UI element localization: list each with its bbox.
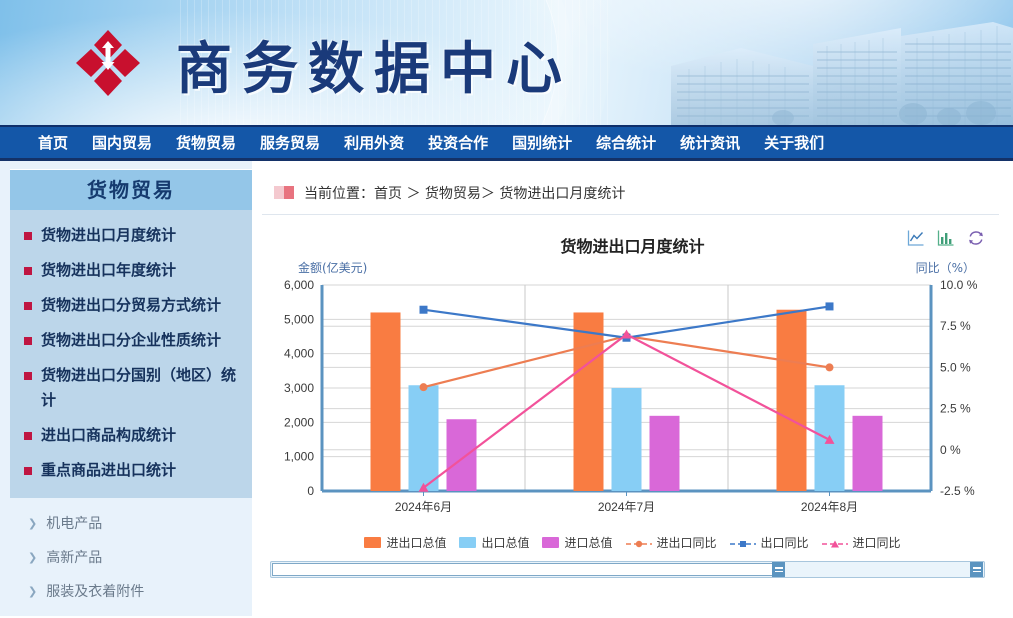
nav-domestic-trade[interactable]: 国内贸易	[80, 132, 164, 153]
sidebar-panel: 货物贸易 货物进出口月度统计 货物进出口年度统计 货物进出口分贸易方式统计 货物…	[10, 169, 252, 498]
legend-label: 进出口同比	[657, 534, 717, 551]
bullet-icon	[24, 432, 32, 440]
sidebar-heading: 货物贸易	[10, 170, 252, 210]
legend-label: 进出口总值	[386, 534, 446, 551]
legend-line-triangle-icon	[822, 538, 848, 548]
sidebar-subitem-label: 高新产品	[46, 547, 102, 567]
svg-text:4,000: 4,000	[284, 347, 314, 361]
legend-swatch	[542, 537, 559, 548]
svg-text:7.5 %: 7.5 %	[940, 319, 971, 333]
svg-text:2.5 %: 2.5 %	[940, 402, 971, 416]
nav-statistics-news[interactable]: 统计资讯	[668, 132, 752, 153]
bullet-icon	[24, 302, 32, 310]
sidebar-item-commodity-composition[interactable]: 进出口商品构成统计	[10, 418, 252, 453]
nav-country-statistics[interactable]: 国别统计	[500, 132, 584, 153]
breadcrumb-text: 当前位置：首页 ＞ 货物贸易＞ 货物进出口月度统计	[304, 183, 625, 203]
legend-item-import-yoy[interactable]: 进口同比	[822, 534, 901, 551]
chevron-right-icon: ❯	[28, 585, 37, 598]
page-body: 货物贸易 货物进出口月度统计 货物进出口年度统计 货物进出口分贸易方式统计 货物…	[0, 161, 1013, 616]
scrollbar-right-grip[interactable]	[970, 562, 983, 577]
scrollbar-left-grip[interactable]	[772, 562, 785, 577]
svg-text:3,000: 3,000	[284, 381, 314, 395]
bullet-icon	[24, 467, 32, 475]
sidebar-subitem-mechanical-electrical[interactable]: ❯ 机电产品	[10, 506, 252, 540]
svg-text:2024年7月: 2024年7月	[598, 500, 655, 514]
svg-text:0: 0	[307, 484, 314, 498]
legend-item-total-yoy[interactable]: 进出口同比	[626, 534, 717, 551]
svg-text:6,000: 6,000	[284, 278, 314, 292]
sidebar-item-annual-stats[interactable]: 货物进出口年度统计	[10, 253, 252, 288]
chart-bar	[371, 312, 401, 491]
refresh-icon[interactable]	[967, 229, 985, 247]
svg-text:-2.5 %: -2.5 %	[940, 484, 975, 498]
sidebar-item-label: 货物进出口分企业性质统计	[41, 328, 221, 353]
combo-chart-svg: 01,0002,0003,0004,0005,0006,000-2.5 %0 %…	[262, 277, 995, 527]
bullet-icon	[24, 372, 32, 380]
ministry-logo-icon	[72, 28, 144, 98]
legend-item-export-yoy[interactable]: 出口同比	[730, 534, 809, 551]
svg-text:2,000: 2,000	[284, 415, 314, 429]
svg-text:2024年6月: 2024年6月	[395, 500, 452, 514]
chart-bar	[853, 416, 883, 491]
sidebar-item-label: 货物进出口分贸易方式统计	[41, 293, 221, 318]
nav-investment-cooperation[interactable]: 投资合作	[416, 132, 500, 153]
nav-home[interactable]: 首页	[26, 132, 80, 153]
sidebar-item-by-trade-mode[interactable]: 货物进出口分贸易方式统计	[10, 288, 252, 323]
legend-line-square-icon	[730, 538, 756, 548]
chart-horizontal-scrollbar[interactable]	[270, 561, 985, 578]
sidebar-item-label: 重点商品进出口统计	[41, 458, 176, 483]
bullet-icon	[24, 232, 32, 240]
chart-bar	[409, 385, 439, 491]
svg-text:0 %: 0 %	[940, 443, 961, 457]
sidebar-item-label: 货物进出口分国别（地区）统计	[41, 363, 240, 413]
scrollbar-thumb[interactable]	[272, 563, 785, 576]
chart-bar	[777, 310, 807, 491]
legend-item-total[interactable]: 进出口总值	[364, 534, 446, 551]
sidebar-item-monthly-stats[interactable]: 货物进出口月度统计	[10, 218, 252, 253]
sidebar-menu: 货物进出口月度统计 货物进出口年度统计 货物进出口分贸易方式统计 货物进出口分企…	[10, 210, 252, 498]
sidebar-item-by-enterprise-type[interactable]: 货物进出口分企业性质统计	[10, 323, 252, 358]
chevron-right-icon: ❯	[28, 551, 37, 564]
sidebar-subitem-label: 机电产品	[46, 513, 102, 533]
bar-chart-icon[interactable]	[937, 229, 955, 247]
bullet-icon	[24, 337, 32, 345]
svg-text:1,000: 1,000	[284, 450, 314, 464]
chart-card: 货物进出口月度统计	[262, 229, 1003, 599]
svg-text:5,000: 5,000	[284, 312, 314, 326]
chart-plot-area: 01,0002,0003,0004,0005,0006,000-2.5 %0 %…	[262, 277, 1003, 527]
legend-label: 出口同比	[761, 534, 809, 551]
nav-service-trade[interactable]: 服务贸易	[248, 132, 332, 153]
chevron-right-icon: ❯	[28, 517, 37, 530]
sidebar-item-key-commodities[interactable]: 重点商品进出口统计	[10, 453, 252, 488]
sidebar-sub-menu: ❯ 机电产品 ❯ 高新产品 ❯ 服装及衣着附件	[10, 498, 252, 614]
chart-legend[interactable]: 进出口总值 出口总值 进口总值 进出口同比	[262, 534, 1003, 551]
chart-bar	[612, 388, 642, 491]
sidebar-item-label: 货物进出口月度统计	[41, 223, 176, 248]
svg-text:2024年8月: 2024年8月	[801, 500, 858, 514]
legend-label: 出口总值	[481, 534, 529, 551]
sidebar-item-by-country-region[interactable]: 货物进出口分国别（地区）统计	[10, 358, 252, 418]
sidebar-item-label: 进出口商品构成统计	[41, 423, 176, 448]
chart-bar	[650, 416, 680, 491]
chart-toolbar[interactable]	[907, 229, 985, 247]
legend-item-export[interactable]: 出口总值	[459, 534, 529, 551]
banner-building-illustration	[663, 14, 1013, 125]
nav-foreign-investment[interactable]: 利用外资	[332, 132, 416, 153]
nav-goods-trade[interactable]: 货物贸易	[164, 132, 248, 153]
line-chart-icon[interactable]	[907, 229, 925, 247]
site-title: 商务数据中心	[176, 24, 572, 105]
legend-swatch	[364, 537, 381, 548]
chart-bar	[447, 419, 477, 491]
legend-item-import[interactable]: 进口总值	[542, 534, 612, 551]
legend-swatch	[459, 537, 476, 548]
y-axis-label-left: 金额(亿美元)	[298, 259, 367, 276]
sidebar-item-label: 货物进出口年度统计	[41, 258, 176, 283]
legend-line-circle-icon	[626, 538, 652, 548]
nav-comprehensive-statistics[interactable]: 综合统计	[584, 132, 668, 153]
legend-label: 进口同比	[853, 534, 901, 551]
sidebar-subitem-apparel-accessories[interactable]: ❯ 服装及衣着附件	[10, 574, 252, 608]
sidebar: 货物贸易 货物进出口月度统计 货物进出口年度统计 货物进出口分贸易方式统计 货物…	[0, 161, 252, 616]
sidebar-subitem-label: 服装及衣着附件	[46, 581, 144, 601]
chart-bar	[574, 312, 604, 491]
svg-text:10.0 %: 10.0 %	[940, 278, 978, 292]
sidebar-subitem-high-tech[interactable]: ❯ 高新产品	[10, 540, 252, 574]
main-navigation[interactable]: 首页 国内贸易 货物贸易 服务贸易 利用外资 投资合作 国别统计 综合统计 统计…	[0, 125, 1013, 161]
chart-title: 货物进出口月度统计	[262, 229, 1003, 257]
svg-text:5.0 %: 5.0 %	[940, 360, 971, 374]
legend-label: 进口总值	[564, 534, 612, 551]
y-axis-label-right: 同比（%）	[916, 259, 975, 276]
breadcrumb: 当前位置：首页 ＞ 货物贸易＞ 货物进出口月度统计	[262, 171, 999, 215]
bullet-icon	[24, 267, 32, 275]
main-content: 当前位置：首页 ＞ 货物贸易＞ 货物进出口月度统计 货物进出口月度统计	[252, 161, 1013, 616]
breadcrumb-marker-icon	[274, 186, 294, 199]
site-banner: 商务数据中心	[0, 0, 1013, 125]
nav-about-us[interactable]: 关于我们	[752, 132, 836, 153]
